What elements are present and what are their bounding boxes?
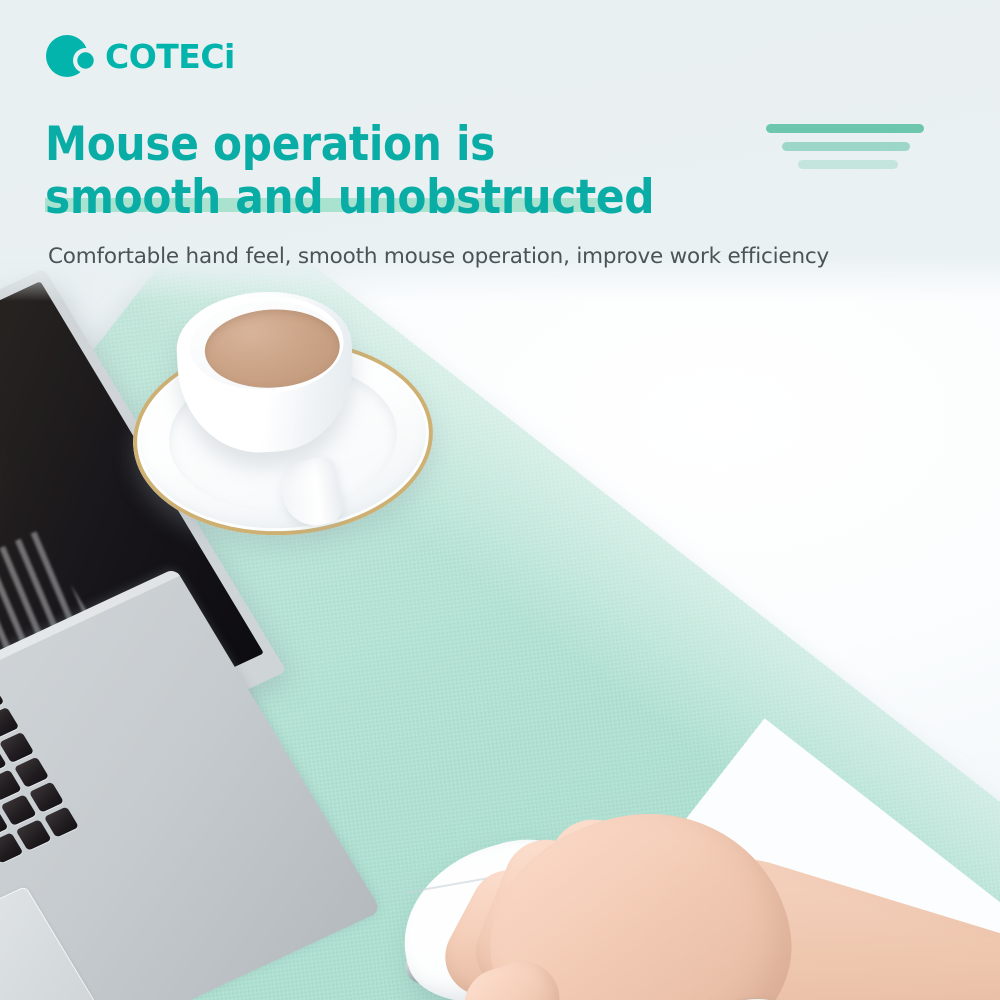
- brand-logo: COTECi: [44, 30, 235, 82]
- headline: Mouse operation is smooth and unobstruct…: [45, 118, 654, 224]
- headline-line-1: Mouse operation is: [45, 118, 654, 171]
- stacked-bars-decoration: [766, 124, 928, 178]
- deco-bar-1: [766, 124, 924, 133]
- milk-tea-liquid: [203, 306, 342, 391]
- cup-rim: [182, 292, 346, 398]
- product-photo: [0, 255, 1000, 1000]
- coteci-circle-mark-icon: [44, 30, 96, 82]
- brand-wordmark: COTECi: [105, 40, 235, 73]
- laptop-trackpad: [0, 886, 103, 1000]
- headline-line-2: smooth and unobstructed: [45, 171, 654, 224]
- product-banner: COTECi Mouse operation is smooth and uno…: [0, 0, 1000, 1000]
- laptop-base: [0, 568, 381, 1000]
- deco-bar-3: [798, 160, 898, 169]
- deco-bar-2: [782, 142, 910, 151]
- banner-header: COTECi Mouse operation is smooth and uno…: [0, 0, 1000, 290]
- subtitle: Comfortable hand feel, smooth mouse oper…: [48, 244, 829, 269]
- hand: [430, 775, 1000, 1000]
